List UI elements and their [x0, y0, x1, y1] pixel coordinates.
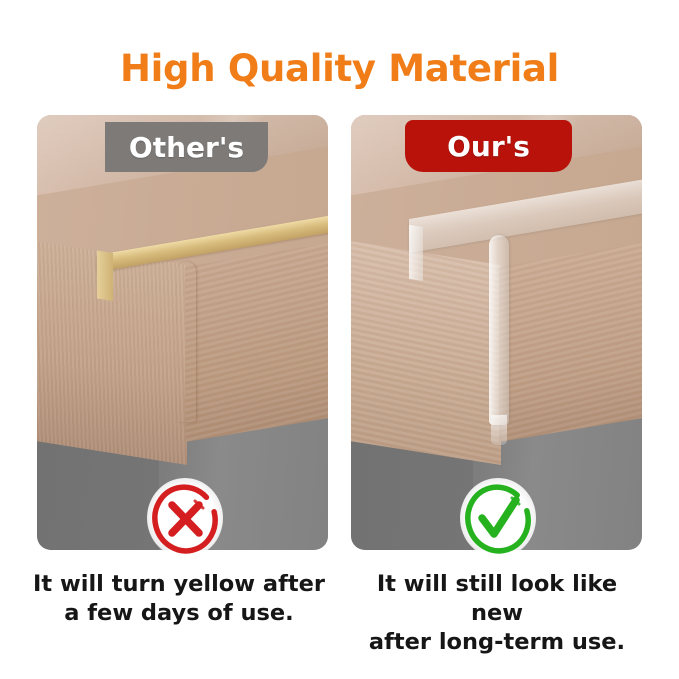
clear-edge-guard-corner: [489, 235, 509, 425]
yellowed-edge-guard-corner: [177, 262, 196, 422]
yellowed-edge-guard-side: [97, 250, 113, 301]
clear-edge-guard-corner-tip: [491, 415, 507, 445]
badge-ours: Our's: [405, 120, 572, 172]
page-title: High Quality Material: [0, 47, 679, 90]
check-mark-icon: [460, 478, 536, 558]
caption-our: It will still look like new after long-t…: [347, 570, 647, 656]
table-slab-side-face-right: [351, 240, 501, 465]
table-slab-front-face-right: [499, 239, 642, 442]
product-comparison-image: High Quality Material Other's Our's: [0, 0, 679, 679]
caption-our-line2: after long-term use.: [347, 628, 647, 657]
caption-other-line2: a few days of use.: [29, 599, 329, 628]
caption-our-line1: It will still look like new: [377, 571, 617, 626]
badge-others: Other's: [105, 122, 268, 172]
table-slab-front-face-left: [185, 239, 328, 442]
caption-other-line1: It will turn yellow after: [33, 571, 325, 597]
caption-other: It will turn yellow after a few days of …: [29, 570, 329, 628]
clear-edge-guard-side: [409, 225, 423, 281]
cross-mark-icon: [147, 478, 223, 558]
